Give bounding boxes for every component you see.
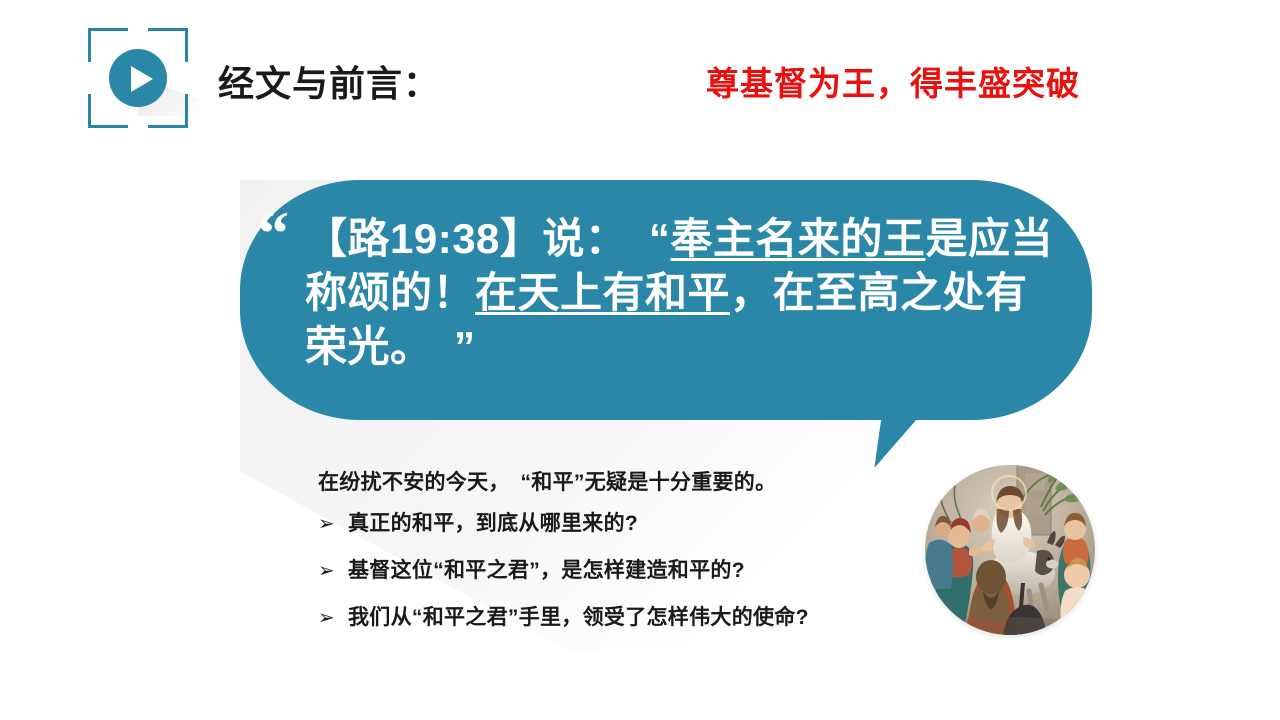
play-icon-frame xyxy=(88,28,188,128)
play-triangle-icon xyxy=(131,66,153,92)
arrow-bullet-icon: ➢ xyxy=(318,604,348,630)
list-item: ➢ 基督这位“和平之君”，是怎样建造和平的? xyxy=(318,557,958,584)
arrow-bullet-icon: ➢ xyxy=(318,510,348,536)
illustration-wrapper xyxy=(925,465,1095,635)
lead-paragraph: 在纷扰不安的今天， “和平”无疑是十分重要的。 xyxy=(318,466,776,496)
list-item: ➢ 真正的和平，到底从哪里来的? xyxy=(318,510,958,537)
quote-line-1-underlined: 奉主名来的王 xyxy=(670,215,925,262)
list-item-label: 基督这位“和平之君”，是怎样建造和平的? xyxy=(348,558,745,584)
page-title: 经文与前言： xyxy=(218,55,440,107)
scripture-quote-text: 【路19:38】说： “奉主名来的王是应当称颂的！在天上有和平，在至高之处有荣光… xyxy=(305,212,1065,374)
list-item-label: 我们从“和平之君”手里，领受了怎样伟大的使命? xyxy=(348,605,809,631)
question-list: ➢ 真正的和平，到底从哪里来的? ➢ 基督这位“和平之君”，是怎样建造和平的? … xyxy=(318,510,958,651)
list-item: ➢ 我们从“和平之君”手里，领受了怎样伟大的使命? xyxy=(318,604,958,631)
quote-line-2-underlined: 在天上有和平 xyxy=(475,269,730,316)
quote-line-2-post: ，在 xyxy=(730,269,815,316)
bubble-tail xyxy=(874,416,919,468)
slide-canvas: 经文与前言： 尊基督为王，得丰盛突破 “ 【路19:38】说： “奉主名来的王是… xyxy=(0,0,1280,720)
list-item-label: 真正的和平，到底从哪里来的? xyxy=(348,511,638,537)
quote-line-1-pre: 【路19:38】说： “ xyxy=(305,215,670,262)
open-quote-icon: “ xyxy=(258,208,289,260)
arrow-bullet-icon: ➢ xyxy=(318,557,348,583)
page-subtitle: 尊基督为王，得丰盛突破 xyxy=(706,57,1080,105)
triumphal-entry-image xyxy=(925,465,1095,635)
